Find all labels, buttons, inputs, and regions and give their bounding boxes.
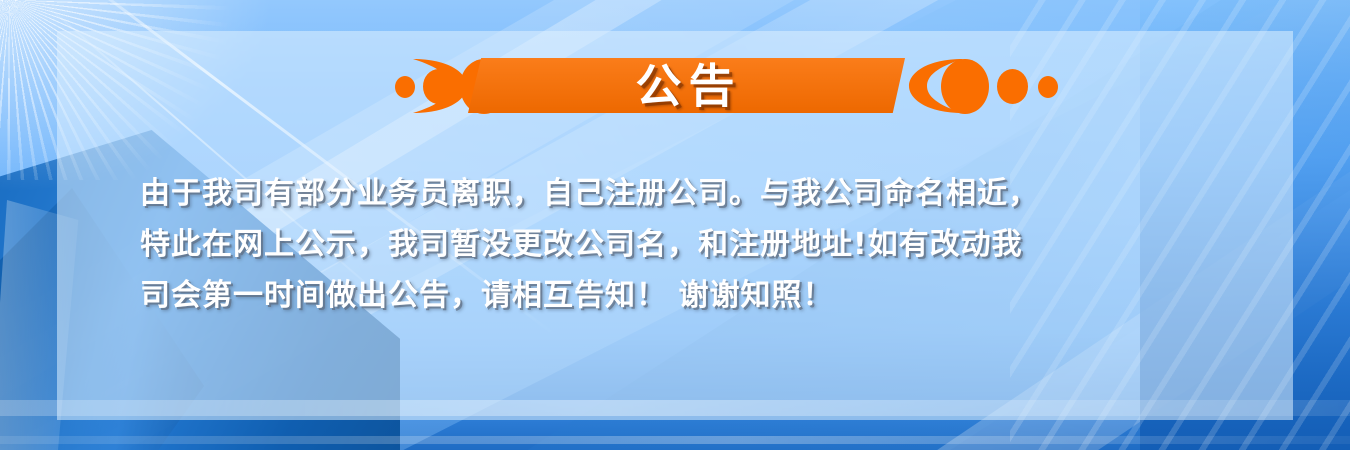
page-title: 公告 [468, 58, 905, 113]
announcement-line: 司会第一时间做出公告，请相互告知！ 谢谢知照！ [140, 270, 1230, 321]
decor-dot-right-medium [997, 69, 1028, 104]
announcement-line: 由于我司有部分业务员离职，自己注册公司。与我公司命名相近， [140, 168, 1230, 219]
announcement-body: 由于我司有部分业务员离职，自己注册公司。与我公司命名相近， 特此在网上公示，我司… [140, 168, 1230, 321]
title-row: 公告 [57, 55, 1293, 117]
decor-dot-right-small [1038, 76, 1058, 98]
decor-dot-right-large [941, 59, 989, 114]
background-bottom-band-2 [0, 436, 1350, 444]
announcement-banner: 公告 由于我司有部分业务员离职，自己注册公司。与我公司命名相近， 特此在网上公示… [0, 0, 1350, 450]
announcement-line: 特此在网上公示，我司暂没更改公司名，和注册地址!如有改动我 [140, 219, 1230, 270]
